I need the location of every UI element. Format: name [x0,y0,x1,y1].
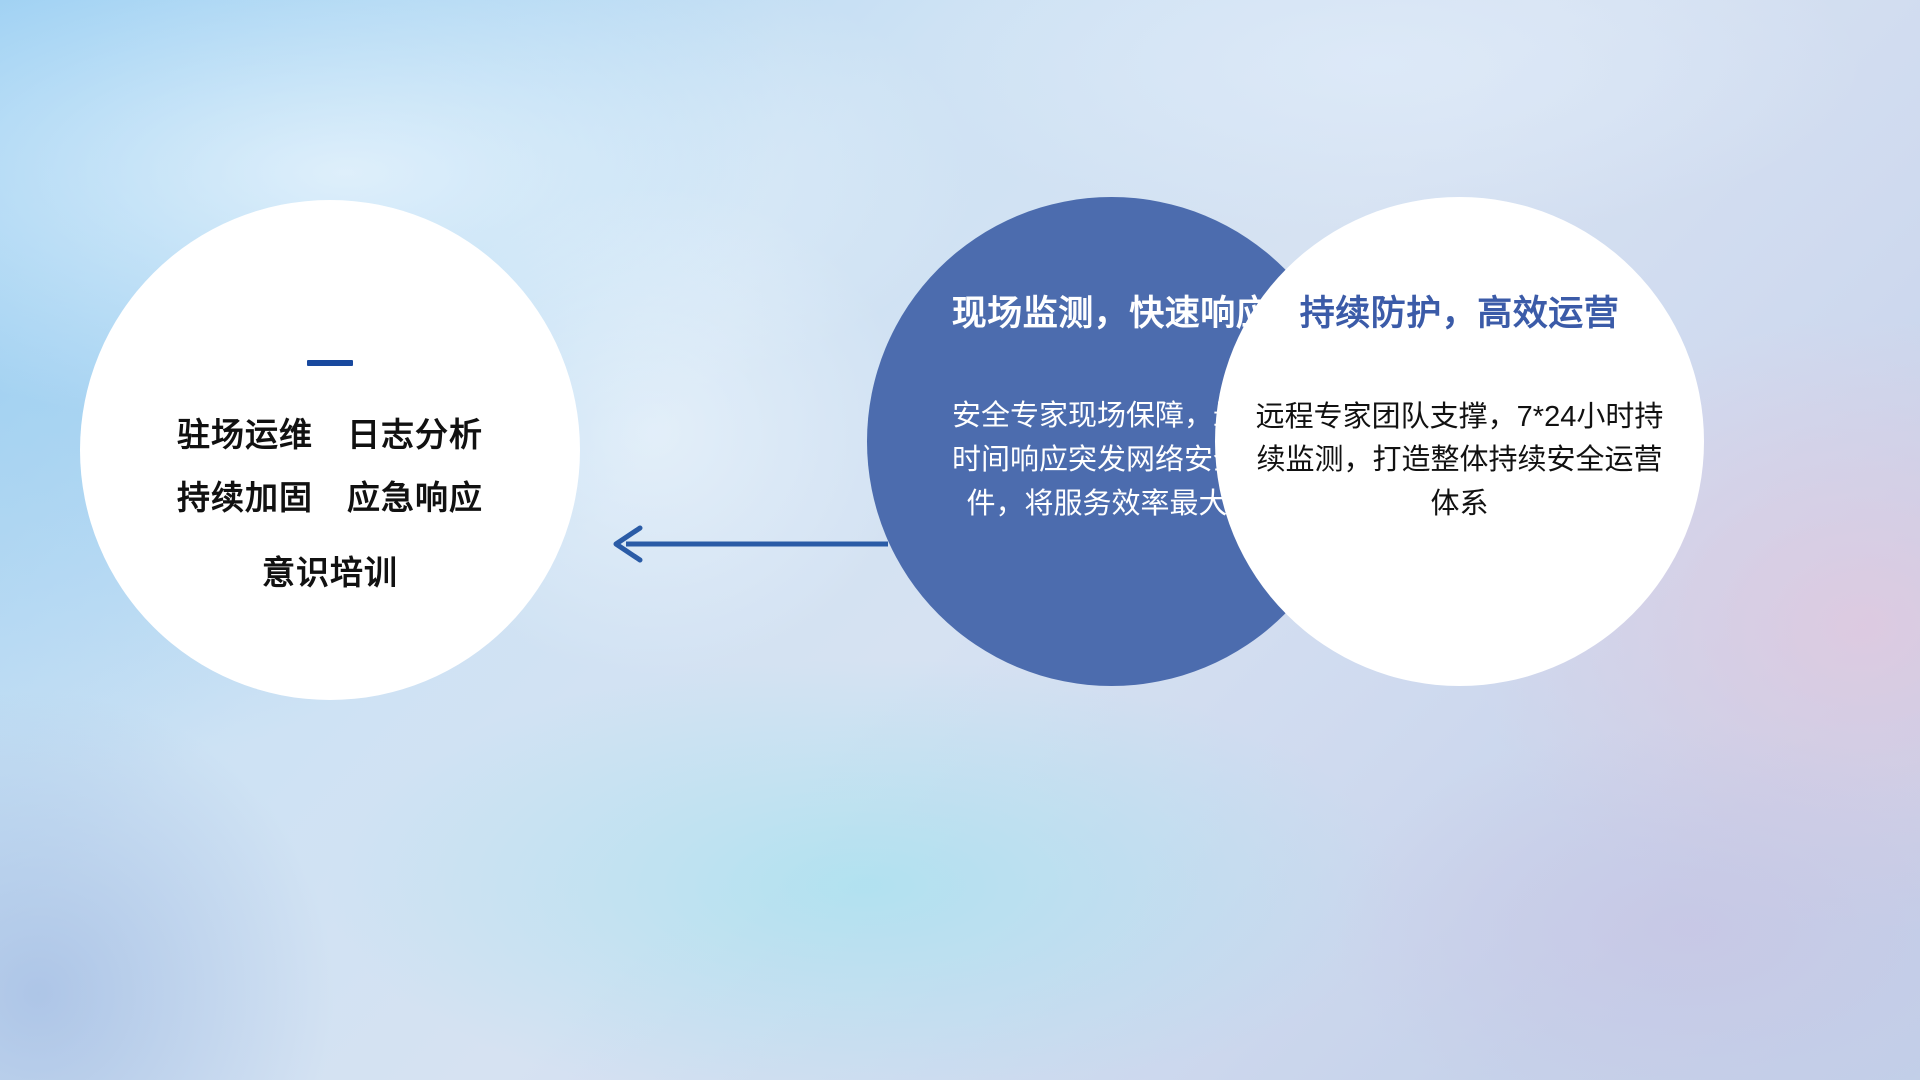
flow-arrow-left-icon [600,512,890,576]
right-circle-content: 持续防护，高效运营 远程专家团队支撑，7*24小时持续监测，打造整体持续安全运营… [1215,197,1704,686]
left-circle-line-3: 意识培训 [262,556,398,589]
right-circle-heading: 持续防护，高效运营 [1300,295,1620,334]
left-circle-content: 驻场运维 日志分析 持续加固 应急响应 意识培训 [80,200,580,700]
divider-dash-icon [307,360,353,366]
right-circle-body-text: 远程专家团队支撑，7*24小时持续监测，打造整体持续安全运营体系 [1250,396,1670,527]
slide-canvas: 驻场运维 日志分析 持续加固 应急响应 意识培训 现场监测，快速响应 安全专家现… [0,0,1920,1080]
left-circle-line-1: 驻场运维 日志分析 [177,418,483,451]
left-circle-line-2: 持续加固 应急响应 [177,481,483,514]
